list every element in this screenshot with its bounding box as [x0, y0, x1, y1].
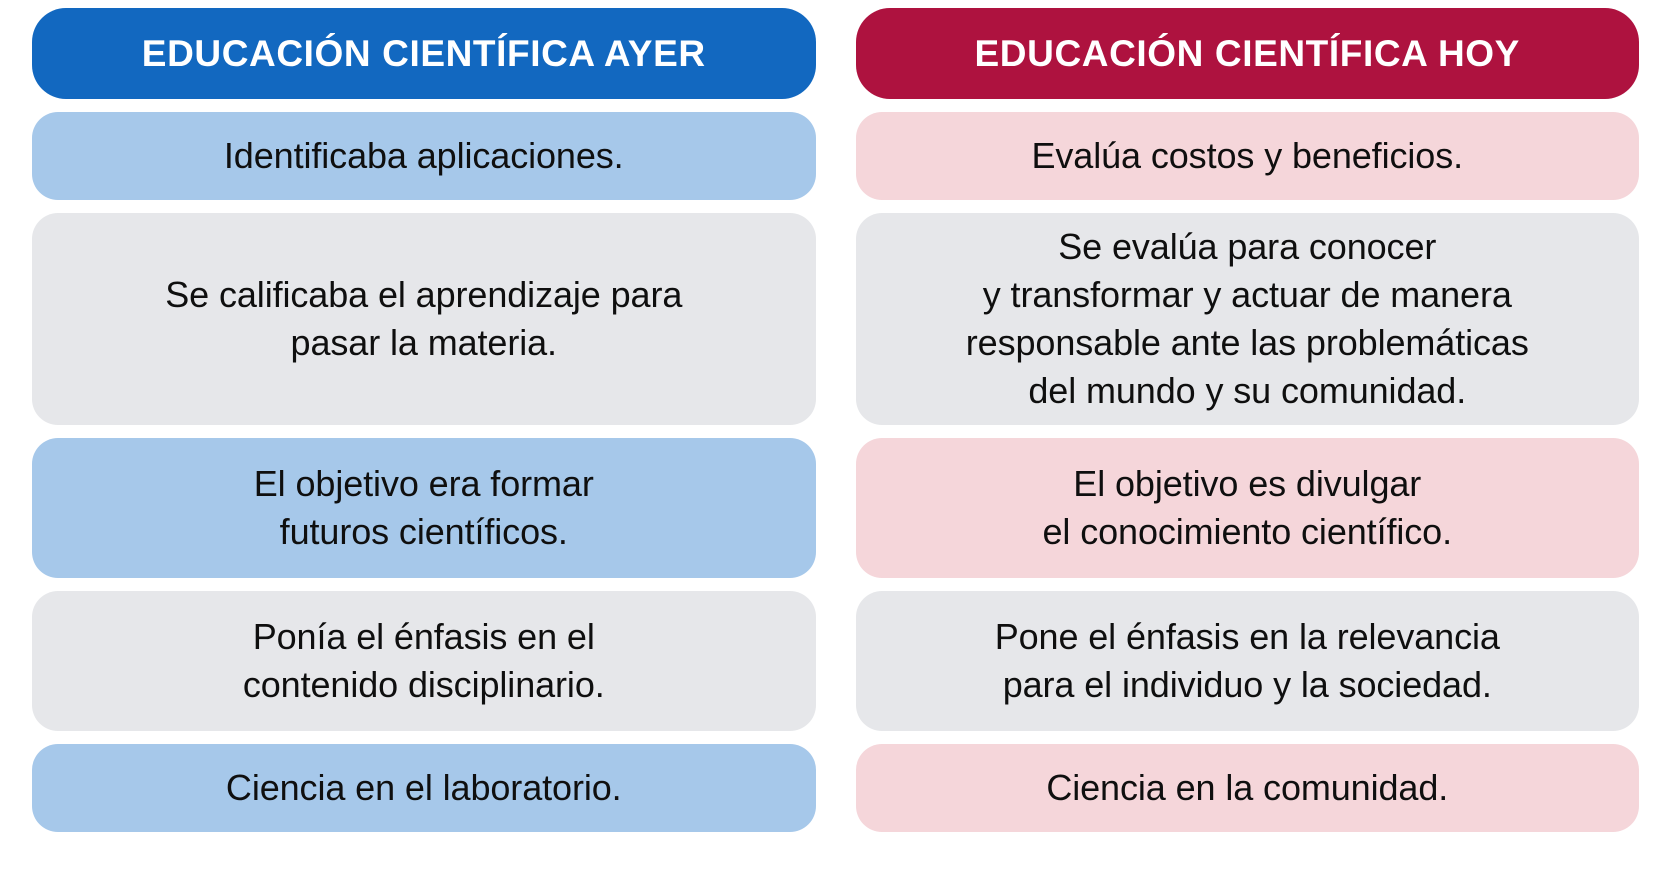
card-ayer-5: Ciencia en el laboratorio. [32, 744, 816, 832]
card-line: Ponía el énfasis en el [50, 613, 798, 661]
card-hoy-5: Ciencia en la comunidad. [856, 744, 1640, 832]
card-line: futuros científicos. [50, 508, 798, 556]
comparison-board: EDUCACIÓN CIENTÍFICA AYER Identificaba a… [0, 0, 1667, 875]
card-line: Pone el énfasis en la relevancia [874, 613, 1622, 661]
card-line: Se evalúa para conocer [874, 223, 1622, 271]
card-line: Evalúa costos y beneficios. [874, 132, 1622, 180]
column-header-hoy: EDUCACIÓN CIENTÍFICA HOY [856, 8, 1640, 99]
card-line: El objetivo era formar [50, 460, 798, 508]
card-line: para el individuo y la sociedad. [874, 661, 1622, 709]
column-ayer: EDUCACIÓN CIENTÍFICA AYER Identificaba a… [32, 8, 816, 865]
card-list-ayer: Identificaba aplicaciones. Se calificaba… [32, 112, 816, 865]
card-ayer-3: El objetivo era formar futuros científic… [32, 438, 816, 578]
column-header-ayer: EDUCACIÓN CIENTÍFICA AYER [32, 8, 816, 99]
card-line: contenido disciplinario. [50, 661, 798, 709]
card-ayer-1: Identificaba aplicaciones. [32, 112, 816, 200]
card-line: del mundo y su comunidad. [874, 367, 1622, 415]
card-hoy-2: Se evalúa para conocer y transformar y a… [856, 213, 1640, 425]
card-line: Se calificaba el aprendizaje para [50, 271, 798, 319]
card-list-hoy: Evalúa costos y beneficios. Se evalúa pa… [856, 112, 1640, 865]
card-ayer-4: Ponía el énfasis en el contenido discipl… [32, 591, 816, 731]
card-line: Ciencia en el laboratorio. [50, 764, 798, 812]
column-hoy: EDUCACIÓN CIENTÍFICA HOY Evalúa costos y… [856, 8, 1640, 865]
card-line: Identificaba aplicaciones. [50, 132, 798, 180]
card-line: el conocimiento científico. [874, 508, 1622, 556]
card-hoy-3: El objetivo es divulgar el conocimiento … [856, 438, 1640, 578]
card-line: El objetivo es divulgar [874, 460, 1622, 508]
card-line: pasar la materia. [50, 319, 798, 367]
card-ayer-2: Se calificaba el aprendizaje para pasar … [32, 213, 816, 425]
card-line: responsable ante las problemáticas [874, 319, 1622, 367]
card-hoy-1: Evalúa costos y beneficios. [856, 112, 1640, 200]
card-hoy-4: Pone el énfasis en la relevancia para el… [856, 591, 1640, 731]
card-line: Ciencia en la comunidad. [874, 764, 1622, 812]
card-line: y transformar y actuar de manera [874, 271, 1622, 319]
